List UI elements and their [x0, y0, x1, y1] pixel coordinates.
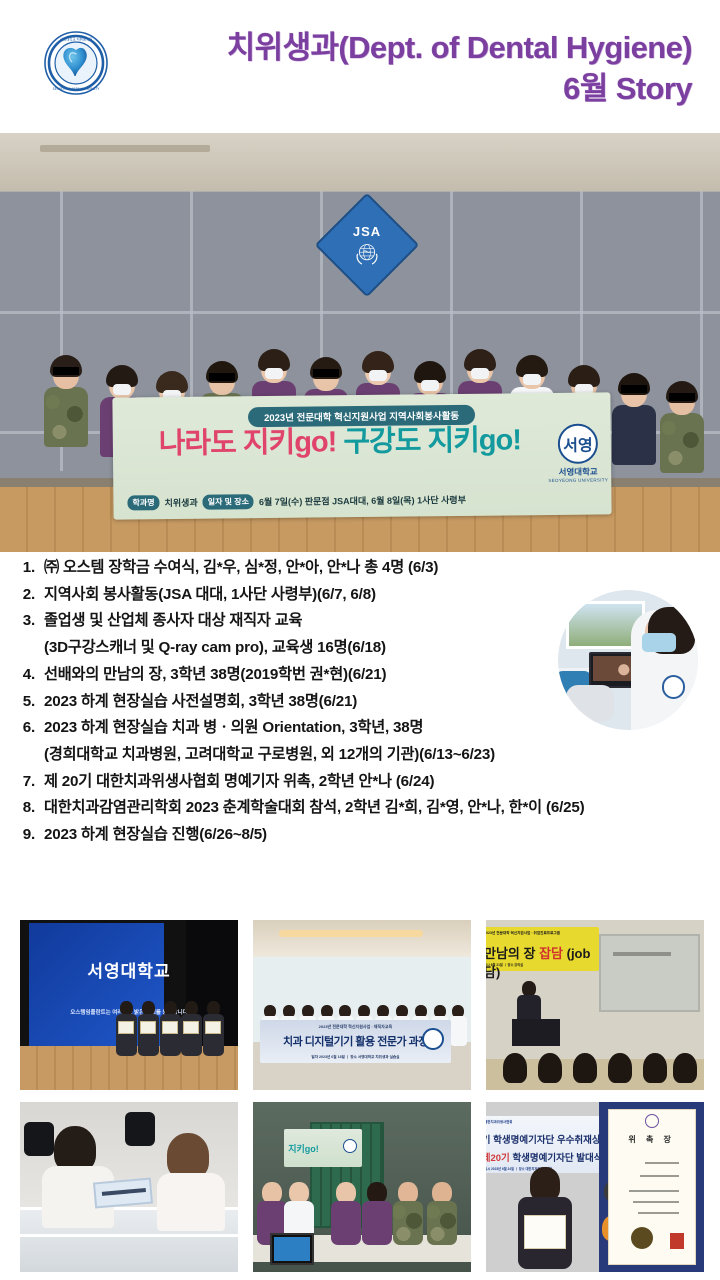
- list-item: 6. 2023 하계 현장실습 치과 병ㆍ의원 Orientation, 3학년…: [18, 720, 706, 762]
- photo-student: [138, 1001, 159, 1056]
- photo-banner-main-1: 만남의 장: [486, 946, 535, 961]
- event-banner: 2023년 전문대학 혁신지원사업 지역사회봉사활동 나라도 지키go! 구강도…: [112, 392, 611, 519]
- list-item-line: 제 20기 대한치과위생사협회 명예기자 위촉, 2학년 안*나 (6/24): [44, 774, 706, 789]
- list-item: 1. ㈜ 오스템 장학금 수여식, 김*우, 심*정, 안*아, 안*나 총 4…: [18, 560, 706, 575]
- photo-soldier: [393, 1182, 423, 1245]
- page-title: 치위생과(Dept. of Dental Hygiene) 6월 Story: [120, 27, 692, 109]
- photo-practice-card: [93, 1178, 153, 1209]
- photo-projection-screen: [599, 934, 699, 1012]
- grid-photo-honorary-reporter-certificate: 대한치과위생사협회 기 학생명예기자단 우수취재상 사상 제20기 학생명예기자…: [486, 1102, 704, 1272]
- list-item: 7. 제 20기 대한치과위생사협회 명예기자 위촉, 2학년 안*나 (6/2…: [18, 774, 706, 789]
- list-item-body: 2023 하계 현장실습 진행(6/26~8/5): [44, 827, 706, 842]
- photo-small-banner: 지키go!: [284, 1129, 362, 1166]
- photo-award-recipient: [518, 1167, 572, 1269]
- banner-university-name-ko: 서영대학교: [559, 465, 598, 477]
- photo-yellow-banner: 2023년 전문대학 혁신지원사업 · 취업진로프로그램 만남의 장 잡담 (j…: [486, 927, 599, 971]
- photo-staff: [362, 1182, 392, 1245]
- photo-patient-hand: [566, 685, 614, 721]
- photo-face-mask: [642, 633, 676, 651]
- title-line-korean-english: 치위생과(Dept. of Dental Hygiene): [120, 27, 692, 68]
- photo-student: [160, 1001, 181, 1056]
- photo-student: [116, 1001, 137, 1056]
- grid-photo-dental-service-soldiers: 지키go!: [253, 1102, 471, 1272]
- svg-text:서영대학교 치위생학과: 서영대학교 치위생학과: [60, 37, 92, 42]
- banner-department-value: 치위생과: [165, 496, 198, 509]
- banner-university-logo: 서영 서영대학교 SEOYEONG UNIVERSITY: [553, 420, 604, 485]
- photo-banner-main-1-text: 기 학생명예기자단 우수취재상: [486, 1135, 599, 1146]
- photo-banner: 대한치과위생사협회 기 학생명예기자단 우수취재상 사상 제20기 학생명예기자…: [486, 1116, 599, 1174]
- photo-banner: 2023년 전문대학 혁신지원사업 · 재직자교육 치과 디지털기기 활용 전문…: [260, 1020, 452, 1063]
- photo-ceiling: [253, 920, 471, 957]
- photo-grid: 서영대학교 오스템임플란트는 여러분의 밝은 미래를 응원합니다: [20, 920, 704, 1272]
- grid-photo-lab-practice: [20, 1102, 238, 1272]
- list-item-number: 5.: [18, 694, 44, 709]
- banner-headline: 나라도 지키go! 구강도 지키go!: [125, 426, 555, 460]
- un-globe-icon: [350, 240, 384, 266]
- list-item-line: (경희대학교 치과병원, 고려대학교 구로병원, 외 12개의 기관)(6/13…: [44, 747, 706, 762]
- photo-right-certificate-closeup: 위 촉 장: [599, 1102, 704, 1272]
- banner-department-tag: 학과명: [127, 495, 159, 510]
- photo-student-left: [42, 1126, 114, 1228]
- photo-student: [181, 1001, 202, 1056]
- list-item-body: 제 20기 대한치과위생사협회 명예기자 위촉, 2학년 안*나 (6/24): [44, 774, 706, 789]
- banner-details: 학과명 치위생과 일자 및 장소 6월 7일(수) 판문점 JSA대대, 6월 …: [127, 491, 577, 511]
- photo-soldier: [427, 1182, 457, 1245]
- page-root: 서영대학교 치위생학과 SEOYEONG 1976 UNIVERSITY 치위생…: [0, 0, 720, 1280]
- banner-datetime-value: 6월 7일(수) 판문점 JSA대대, 6월 8일(목) 1사단 사령부: [259, 493, 466, 508]
- photo-audience: [503, 1053, 529, 1083]
- list-item-body: ㈜ 오스템 장학금 수여식, 김*우, 심*정, 안*아, 안*나 총 4명 (…: [44, 560, 706, 575]
- certificate-title: 위 촉 장: [609, 1134, 695, 1145]
- banner-headline-part1: 나라도 지키go!: [159, 426, 337, 460]
- photo-student: [203, 1001, 224, 1056]
- certificate-logo: [645, 1114, 659, 1128]
- list-item-line: 대한치과감염관리학회 2023 춘계학술대회 참석, 2학년 김*희, 김*영,…: [44, 800, 706, 815]
- photo-audience: [643, 1053, 669, 1083]
- list-item-number: 4.: [18, 667, 44, 682]
- photo-staff: [331, 1182, 361, 1245]
- photo-student-right: [157, 1133, 225, 1231]
- list-item-number: 3.: [18, 613, 44, 655]
- photo-audience: [538, 1053, 564, 1083]
- photo-audience: [573, 1053, 599, 1083]
- photo-banner-main-2: 잡담: [539, 946, 563, 961]
- circular-photo-3d-scanner: [558, 590, 698, 730]
- photo-banner-top: 대한치과위생사협회: [486, 1119, 512, 1124]
- photo-banner-bottom: 일시 6월 21일 ㅣ 장소 강의실: [486, 962, 523, 967]
- photo-audience: [608, 1053, 634, 1083]
- photo-certificate: 위 촉 장: [608, 1109, 696, 1265]
- grid-photo-digital-dentistry-training: 2023년 전문대학 혁신지원사업 · 재직자교육 치과 디지털기기 활용 전문…: [253, 920, 471, 1090]
- jsa-sign-label: JSA: [353, 224, 381, 239]
- hero-ceiling: [0, 133, 720, 191]
- photo-banner-main-2: 제20기 학생명예기자단 발대식: [486, 1150, 599, 1164]
- photo-banner-main-2-text: 학생명예기자단 발대식: [512, 1153, 599, 1164]
- photo-monitor: [270, 1233, 314, 1265]
- photo-banner-top: 2023년 전문대학 혁신지원사업 · 취업진로프로그램: [486, 931, 560, 936]
- photo-left-appointment-ceremony: 대한치과위생사협회 기 학생명예기자단 우수취재상 사상 제20기 학생명예기자…: [486, 1102, 599, 1272]
- certificate-seal: [631, 1227, 653, 1249]
- photo-banner-top: 2023년 전문대학 혁신지원사업 · 재직자교육: [260, 1024, 452, 1030]
- banner-headline-part2: 구강도 지키go!: [343, 424, 521, 458]
- title-line-month-story: 6월 Story: [120, 68, 692, 109]
- list-item-line: 2023 하계 현장실습 진행(6/26~8/5): [44, 827, 706, 842]
- list-item-number: 7.: [18, 774, 44, 789]
- photo-banner-bottom: 일자 2023년 6월 18일 ㅣ 장소 서영대학교 치위생과 실습실: [260, 1055, 452, 1060]
- photo-chair: [125, 1112, 155, 1146]
- svg-text:SEOYEONG 1976 UNIVERSITY: SEOYEONG 1976 UNIVERSITY: [53, 87, 100, 91]
- grid-photo-scholarship-ceremony: 서영대학교 오스템임플란트는 여러분의 밝은 미래를 응원합니다: [20, 920, 238, 1090]
- banner-datetime-tag: 일자 및 장소: [203, 494, 254, 510]
- photo-banner-seal: [422, 1028, 444, 1050]
- list-item-number: 8.: [18, 800, 44, 815]
- list-item-number: 1.: [18, 560, 44, 575]
- university-emblem-logo: 서영대학교 치위생학과 SEOYEONG 1976 UNIVERSITY: [43, 30, 109, 96]
- list-item-line: ㈜ 오스템 장학금 수여식, 김*우, 심*정, 안*아, 안*나 총 4명 (…: [44, 560, 706, 575]
- list-item-number: 2.: [18, 587, 44, 602]
- page-header: 서영대학교 치위생학과 SEOYEONG 1976 UNIVERSITY 치위생…: [0, 0, 720, 133]
- list-item: 8. 대한치과감염관리학회 2023 춘계학술대회 참석, 2학년 김*희, 김…: [18, 800, 706, 815]
- photo-screen-title: 서영대학교: [20, 957, 238, 982]
- hero-group-photo: JSA: [0, 133, 720, 552]
- grid-photo-senior-meeting-lecture: 2023년 전문대학 혁신지원사업 · 취업진로프로그램 만남의 장 잡담 (j…: [486, 920, 704, 1090]
- list-item-body: 대한치과감염관리학회 2023 춘계학술대회 참석, 2학년 김*희, 김*영,…: [44, 800, 706, 815]
- list-item-number: 9.: [18, 827, 44, 842]
- photo-banner-main-1: 기 학생명예기자단 우수취재상 사상: [486, 1132, 599, 1146]
- banner-university-name-en: SEOYEONG UNIVERSITY: [548, 477, 608, 483]
- list-item: 9. 2023 하계 현장실습 진행(6/26~8/5): [18, 827, 706, 842]
- banner-top-label: 2023년 전문대학 혁신지원사업 지역사회봉사활동: [248, 405, 475, 427]
- photo-banner-main-2-highlight: 제20기: [486, 1153, 510, 1164]
- certificate-stamp: [670, 1233, 684, 1249]
- photo-audience: [673, 1053, 699, 1083]
- banner-logo-ring: 서영: [558, 423, 598, 463]
- list-item-number: 6.: [18, 720, 44, 762]
- photo-podium: [512, 1019, 560, 1046]
